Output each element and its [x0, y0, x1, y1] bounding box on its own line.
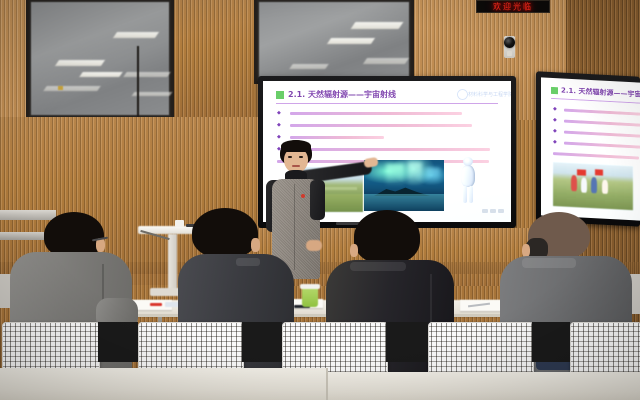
- camera-indicator: [507, 51, 512, 56]
- bullet-text-2: [290, 124, 472, 127]
- lecturer-resting-hand: [306, 240, 322, 251]
- child-figure: [602, 180, 608, 194]
- red-marker: [150, 303, 162, 306]
- desk-row-front: [0, 368, 326, 400]
- astronaut-figure: [459, 157, 477, 205]
- floor-gap: [532, 322, 570, 362]
- lecturer-mouth: [292, 165, 300, 167]
- slide-title: 2.1. 天然辐射源——宇宙射线: [288, 89, 396, 100]
- attendee-ear: [251, 238, 260, 252]
- floor-gap: [386, 322, 428, 362]
- aurora-photo: [364, 160, 444, 211]
- side-bullet-4: [564, 142, 640, 149]
- bullet-marker-icon: ◆: [553, 107, 557, 112]
- bullet-marker-icon: ◆: [553, 140, 557, 145]
- side-footer-note: [553, 152, 639, 159]
- child-figure: [591, 177, 597, 193]
- flag-icon: [595, 169, 603, 175]
- attendee-collar: [350, 262, 406, 271]
- led-display-sign: 欢迎光临: [476, 0, 550, 13]
- children-running-photo: [553, 162, 633, 210]
- side-slide-title: 2.1. 天然辐射源——宇宙: [561, 85, 640, 99]
- attendee-hair: [192, 208, 258, 258]
- lecturer-eye-right: [299, 156, 303, 158]
- led-sign-text: 欢迎光临: [493, 0, 533, 12]
- side-bullet-3: [564, 131, 640, 138]
- flag-icon: [577, 169, 586, 175]
- side-slide-accent-bar: [551, 87, 558, 94]
- child-figure: [581, 178, 587, 193]
- classroom-scene: 欢迎光临 2.1. 天然辐射源——宇宙射线 材料科学与工程学院 ◆ ◆: [0, 0, 640, 400]
- child-figure: [571, 175, 577, 191]
- lectern-column: [168, 234, 177, 292]
- bullet-marker-icon: ◆: [553, 118, 557, 123]
- attendee-collar: [236, 258, 260, 266]
- lecturer-fringe: [281, 140, 311, 152]
- slide-title-underline: [276, 103, 498, 104]
- zoom-icon[interactable]: [490, 209, 496, 213]
- slide-accent-bar: [276, 91, 284, 99]
- side-bullet-1: [564, 109, 640, 116]
- desk-seam: [326, 368, 328, 400]
- bullet-marker-icon: ◆: [277, 111, 281, 116]
- ceiling-camera-icon: [504, 37, 515, 48]
- floor-gap: [98, 322, 138, 362]
- window-glass-right: [257, 0, 411, 81]
- watermark-ring-icon: [457, 89, 468, 100]
- side-bullet-2: [564, 120, 640, 127]
- attendee-ear: [350, 244, 358, 257]
- institution-watermark: 材料科学与工程学院: [468, 91, 511, 98]
- lecturer-lapel-pin: [301, 194, 305, 198]
- side-slide-screen[interactable]: 2.1. 天然辐射源——宇宙 ◆ ◆ ◆ ◆: [541, 77, 640, 220]
- attendee-hair: [354, 210, 420, 264]
- attendee-collar: [522, 258, 576, 268]
- bullet-text-3: [290, 136, 384, 139]
- bullet-marker-icon: ◆: [277, 123, 281, 128]
- window-glass-left: [29, 0, 171, 117]
- wall-panel-middle: [174, 0, 254, 120]
- desk-row-front-right: [328, 372, 640, 400]
- floor-gap: [242, 322, 282, 362]
- lecturer-eye-left: [288, 156, 292, 158]
- lecturer-sleeve-right: [310, 180, 325, 220]
- page-icon[interactable]: [482, 209, 488, 213]
- bullet-marker-icon: ◆: [553, 129, 557, 134]
- bullet-text-1: [290, 112, 462, 115]
